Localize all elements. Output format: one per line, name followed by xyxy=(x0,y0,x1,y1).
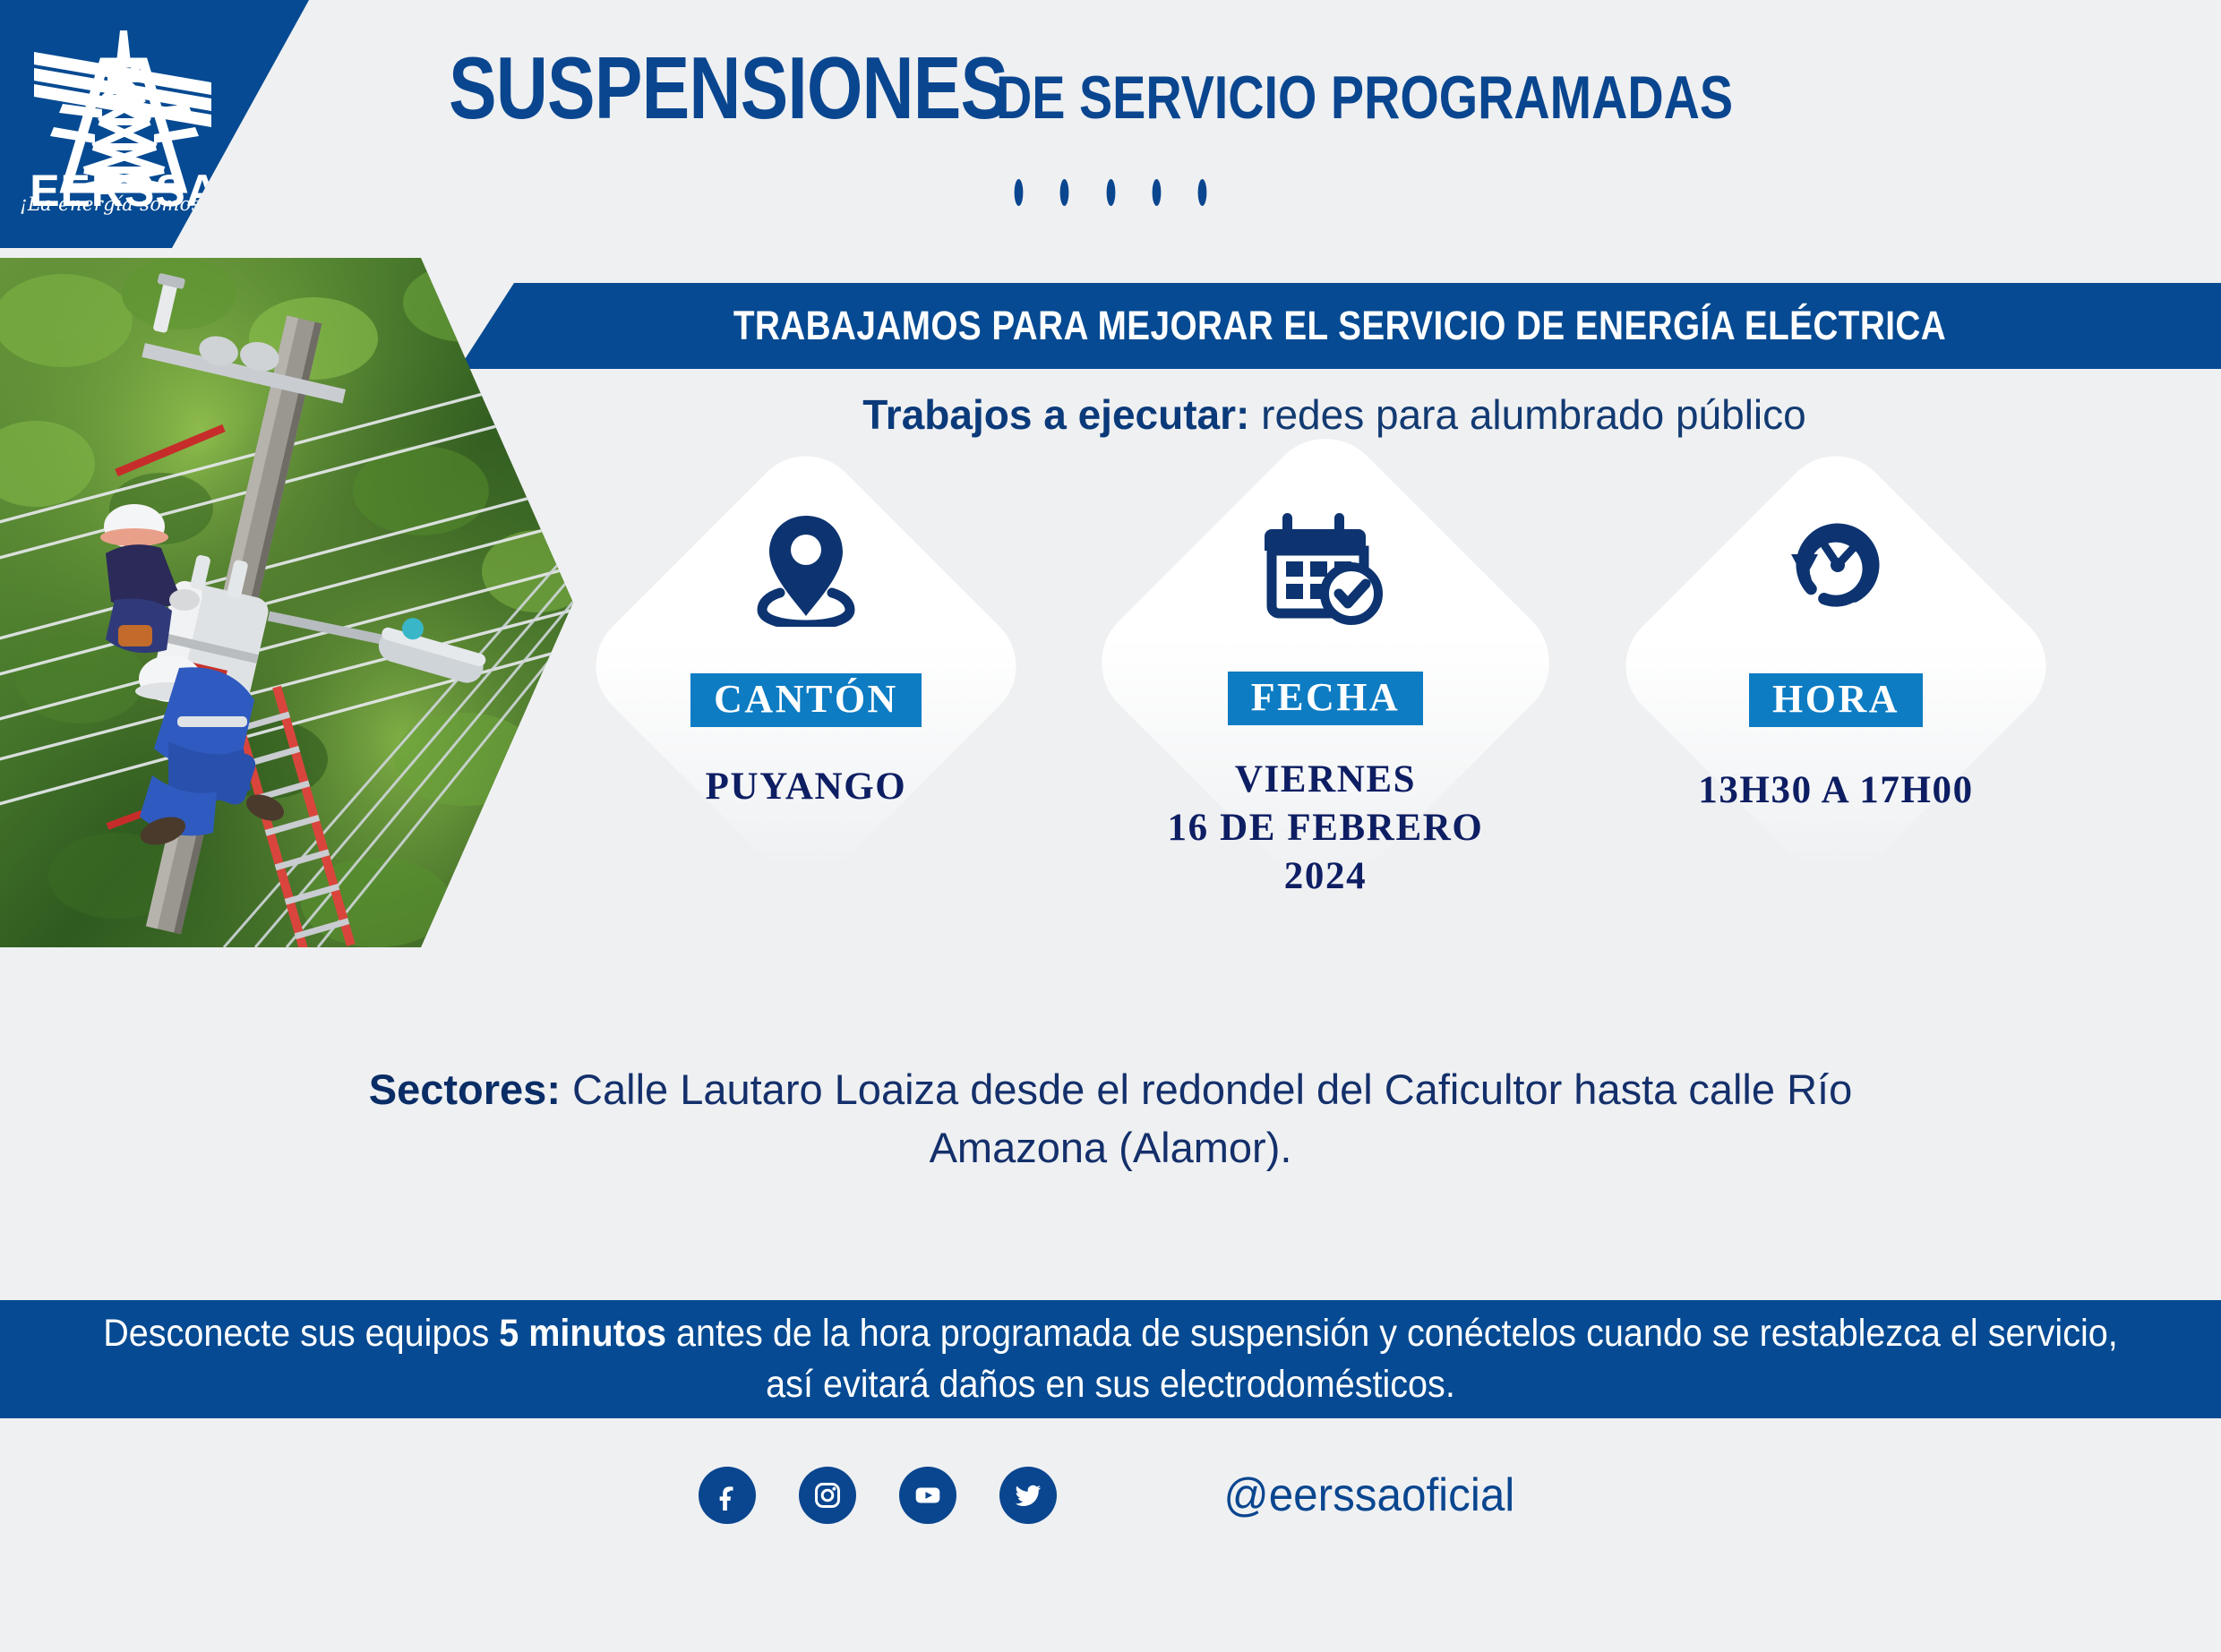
calendar-check-icon xyxy=(1265,501,1386,636)
location-pin-icon xyxy=(753,501,859,636)
dot-4 xyxy=(1153,179,1162,206)
card-fecha-value: VIERNES 16 DE FEBRERO 2024 xyxy=(1168,756,1484,902)
twitter-icon[interactable] xyxy=(999,1467,1057,1524)
social-handle[interactable]: @eerssaoficial xyxy=(1224,1468,1515,1522)
dot-3 xyxy=(1106,179,1115,206)
footer-notice-bar: Desconecte sus equipos 5 minutos antes d… xyxy=(0,1300,2221,1418)
footer-notice-part1: Desconecte sus equipos xyxy=(103,1312,499,1355)
page-title-strong: SUSPENSIONES xyxy=(449,38,1008,139)
card-canton-badge: CANTÓN xyxy=(690,673,922,727)
facebook-icon[interactable] xyxy=(699,1467,756,1524)
works-subtitle-label: Trabajos a ejecutar: xyxy=(862,391,1249,438)
card-hora-badge: HORA xyxy=(1749,673,1923,727)
footer-notice-part2: antes de la hora programada de suspensió… xyxy=(666,1312,2118,1406)
poster-root: EERSSA ¡La energía somos todos! SUSPENSI… xyxy=(0,0,2221,1652)
card-fecha-badge: FECHA xyxy=(1228,672,1424,725)
dot-5 xyxy=(1198,179,1207,206)
sectores-text: Sectores: Calle Lautaro Loaiza desde el … xyxy=(304,1061,1917,1177)
card-canton: CANTÓN PUYANGO xyxy=(573,501,1039,967)
brand-tagline: ¡La energía somos todos! xyxy=(20,193,212,215)
footer-notice-bold: 5 minutos xyxy=(499,1312,666,1355)
page-title: SUSPENSIONES DE SERVICIO PROGRAMADAS xyxy=(0,38,2221,139)
card-fecha: FECHA VIERNES 16 DE FEBRERO 2024 xyxy=(1093,487,1558,953)
social-row: @eerssaoficial xyxy=(0,1446,2221,1545)
card-canton-value: PUYANGO xyxy=(706,763,907,811)
card-hora-value: 13H30 A 17H00 xyxy=(1698,766,1974,815)
sectores-label: Sectores: xyxy=(369,1066,561,1113)
youtube-icon[interactable] xyxy=(899,1467,956,1524)
banner-text: TRABAJAMOS PARA MEJORAR EL SERVICIO DE E… xyxy=(582,283,2097,369)
clock-history-icon xyxy=(1779,501,1893,636)
banner-bar: TRABAJAMOS PARA MEJORAR EL SERVICIO DE E… xyxy=(459,283,2221,369)
works-subtitle-value: redes para alumbrado público xyxy=(1249,391,1805,438)
decorative-dots xyxy=(0,179,2221,210)
works-subtitle: Trabajos a ejecutar: redes para alumbrad… xyxy=(484,390,2185,439)
instagram-icon[interactable] xyxy=(799,1467,856,1524)
dot-2 xyxy=(1060,179,1069,206)
card-hora: HORA 13H30 A 17H00 xyxy=(1603,501,2069,967)
sectores-value: Calle Lautaro Loaiza desde el redondel d… xyxy=(561,1066,1852,1171)
page-title-light: DE SERVICIO PROGRAMADAS xyxy=(996,63,1733,133)
dot-1 xyxy=(1014,179,1023,206)
